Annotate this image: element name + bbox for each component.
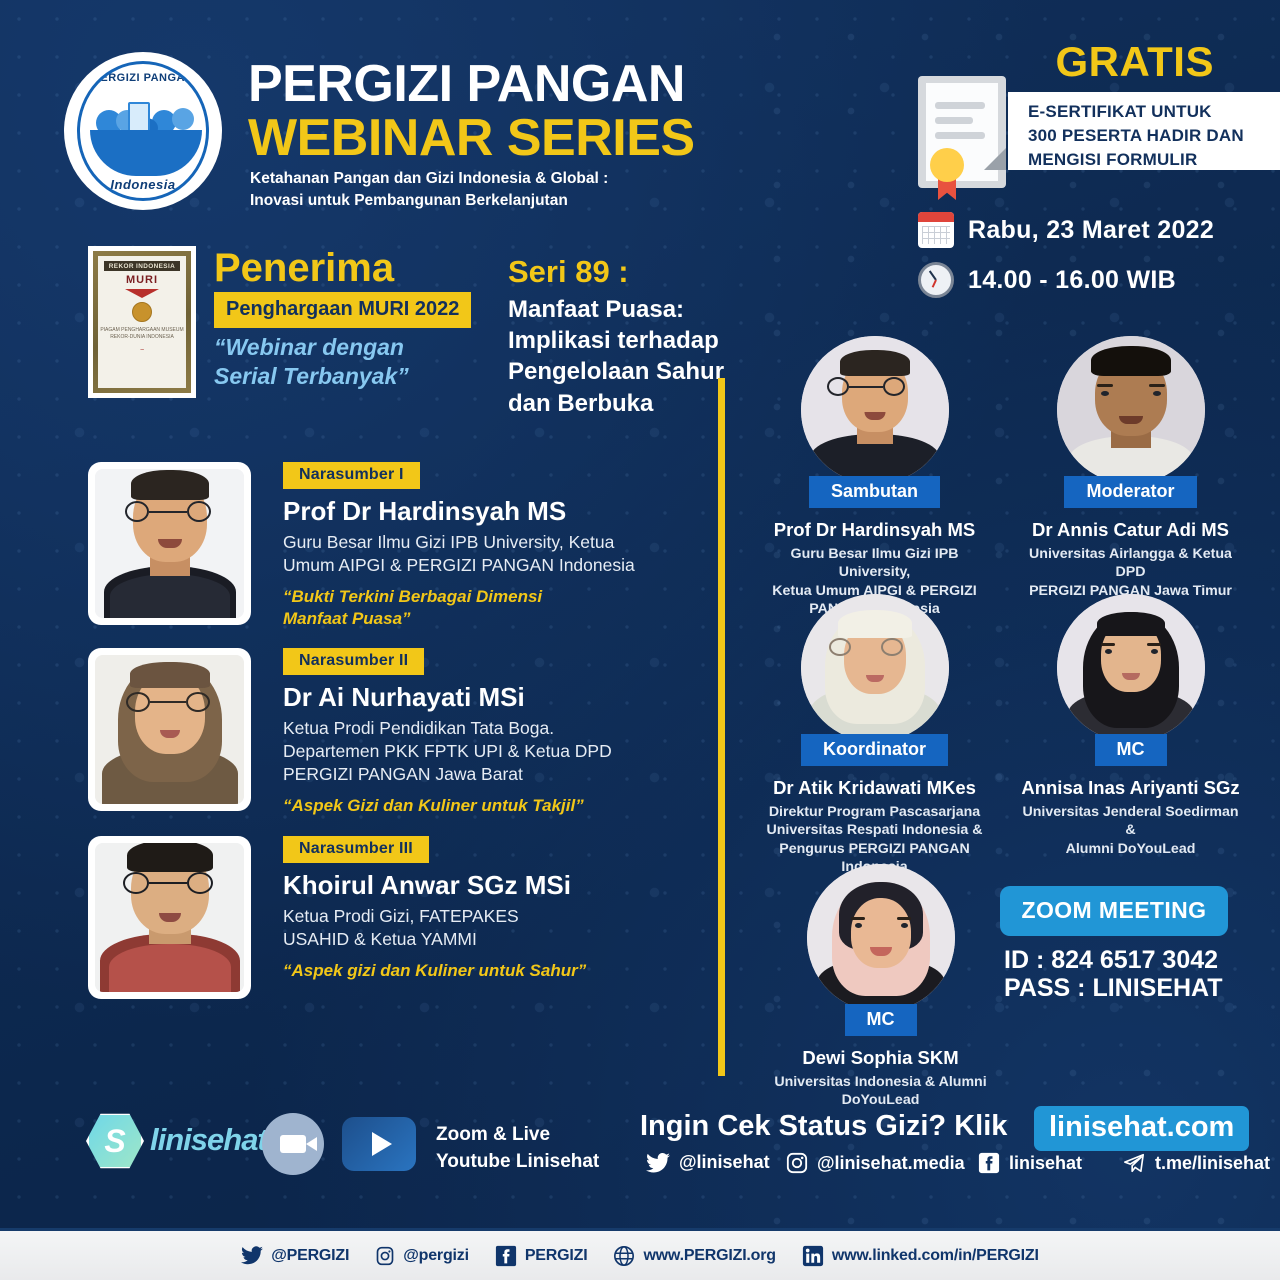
staff-role-mc-annisa: MC [1095,734,1167,766]
muri-award-badge: Penghargaan MURI 2022 [214,292,471,328]
series-title-line3: Pengelolaan Sahur [508,356,724,387]
speaker-photo-3 [88,836,251,999]
social-label-instagram: @linisehat.media [817,1153,965,1174]
staff-card-mc-dewi: MC Dewi Sophia SKM Universitas Indonesia… [768,864,993,1110]
staff-avatar-mc-annisa [1057,594,1205,742]
muri-award-quote: “Webinar dengan Serial Terbanyak” [214,333,409,391]
staff-desc-mc-annisa: Universitas Jenderal Soedirman & Alumni … [1018,803,1243,858]
event-time-row: 14.00 - 16.00 WIB [918,262,1176,298]
speaker-name-1: Prof Dr Hardinsyah MS [283,497,708,526]
staff-role-moderator: Moderator [1064,476,1196,508]
speaker-topic-1: “Bukti Terkini Berbagai Dimensi Manfaat … [283,586,708,630]
speaker-chip-2: Narasumber II [283,648,424,675]
cta-link-button[interactable]: linisehat.com [1034,1106,1249,1151]
instagram-icon [786,1152,808,1174]
speaker-topic-3: “Aspek gizi dan Kuliner untuk Sahur” [283,960,708,982]
staff-moderator-line1: Universitas Airlangga & Ketua DPD [1018,545,1243,582]
series-title-line1: Manfaat Puasa: [508,294,724,325]
vertical-divider [718,378,725,1076]
staff-card-mc-annisa: MC Annisa Inas Ariyanti SGz Universitas … [1018,594,1243,858]
speaker-aff-3-line2: USAHID & Ketua YAMMI [283,928,708,951]
speaker-topic-3-line1: “Aspek gizi dan Kuliner untuk Sahur” [283,960,708,982]
staff-avatar-moderator [1057,336,1205,484]
social-telegram-linisehat[interactable]: t.me/linisehat [1122,1152,1270,1174]
staff-sambutan-line1: Guru Besar Ilmu Gizi IPB University, [762,545,987,582]
stream-line1: Zoom & Live [436,1122,599,1149]
staff-avatar-koordinator [801,594,949,742]
facebook-icon [978,1152,1000,1174]
staff-mc-annisa-line1: Universitas Jenderal Soedirman & [1018,803,1243,840]
bottom-label-instagram: @pergizi [403,1247,469,1265]
tagline-line1: Ketahanan Pangan dan Gizi Indonesia & Gl… [250,168,608,190]
social-label-twitter: @linisehat [679,1152,770,1173]
speaker-aff-1-line1: Guru Besar Ilmu Gizi IPB University, Ket… [283,531,708,554]
staff-card-moderator: Moderator Dr Annis Catur Adi MS Universi… [1018,336,1243,600]
staff-desc-mc-dewi: Universitas Indonesia & Alumni DoYouLead [768,1073,993,1110]
logo-bowl-shape [90,130,202,176]
zoom-meeting-button[interactable]: ZOOM MEETING [1000,886,1228,936]
speaker-aff-1-line2: Umum AIPGI & PERGIZI PANGAN Indonesia [283,554,708,577]
series-title: Manfaat Puasa: Implikasi terhadap Pengel… [508,294,724,419]
poster-title-line2: WEBINAR SERIES [248,112,695,164]
gratis-label: GRATIS [1055,38,1214,86]
speaker-chip-1: Narasumber I [283,462,420,489]
bottom-item-linkedin[interactable]: www.linked.com/in/PERGIZI [802,1245,1039,1267]
staff-role-koordinator: Koordinator [801,734,948,766]
speaker-name-2: Dr Ai Nurhayati MSi [283,683,708,712]
speaker-aff-2-line2: Departemen PKK FPTK UPI & Ketua DPD [283,740,708,763]
social-facebook-linisehat[interactable]: linisehat [978,1152,1082,1174]
speaker-topic-2: “Aspek Gizi dan Kuliner untuk Takjil” [283,795,708,817]
speaker-name-3: Khoirul Anwar SGz MSi [283,871,708,900]
bottom-label-linkedin: www.linked.com/in/PERGIZI [832,1247,1039,1265]
staff-mc-dewi-line2: DoYouLead [768,1091,993,1109]
staff-name-sambutan: Prof Dr Hardinsyah MS [762,519,987,541]
staff-card-sambutan: Sambutan Prof Dr Hardinsyah MS Guru Besa… [762,336,987,619]
facebook-icon [495,1245,517,1267]
muri-quote-line2: Serial Terbanyak” [214,362,409,391]
muri-certificate-image: REKOR INDONESIA MURI PIAGAM PENGHARGAAN … [88,246,196,398]
speaker-topic-2-line1: “Aspek Gizi dan Kuliner untuk Takjil” [283,795,708,817]
twitter-icon [241,1246,263,1265]
penerima-heading: Penerima [214,248,394,288]
event-time: 14.00 - 16.00 WIB [968,266,1176,295]
staff-koordinator-line2: Universitas Respati Indonesia & [762,821,987,839]
speaker-affiliation-3: Ketua Prodi Gizi, FATEPAKES USAHID & Ket… [283,905,708,951]
social-label-facebook: linisehat [1009,1153,1082,1174]
speaker-affiliation-2: Ketua Prodi Pendidikan Tata Boga. Depart… [283,717,708,786]
certificate-line3: MENGISI FORMULIR [1028,148,1244,172]
bottom-item-twitter[interactable]: @PERGIZI [241,1246,349,1265]
linisehat-logo: S [86,1112,144,1170]
poster-title-line1: PERGIZI PANGAN [248,58,685,110]
staff-mc-annisa-line2: Alumni DoYouLead [1018,840,1243,858]
youtube-icon [342,1117,416,1171]
certificate-text: E-SERTIFIKAT UNTUK 300 PESERTA HADIR DAN… [1028,100,1244,172]
logo-top-arc-text: PERGIZI PANGAN [80,72,206,84]
event-date-row: Rabu, 23 Maret 2022 [918,212,1214,248]
staff-role-mc-dewi: MC [845,1004,917,1036]
staff-koordinator-line1: Direktur Program Pascasarjana [762,803,987,821]
speaker-chip-3: Narasumber III [283,836,429,863]
zoom-meeting-pass: PASS : LINISEHAT [1004,972,1223,1005]
certificate-line1: E-SERTIFIKAT UNTUK [1028,100,1244,124]
speaker-aff-3-line1: Ketua Prodi Gizi, FATEPAKES [283,905,708,928]
staff-koordinator-line3: Pengurus PERGIZI PANGAN [762,840,987,858]
staff-name-moderator: Dr Annis Catur Adi MS [1018,519,1243,541]
series-number: Seri 89 : [508,256,629,287]
series-title-line4: dan Berbuka [508,388,724,419]
stream-info: Zoom & Live Youtube Linisehat [436,1122,599,1176]
muri-chevron-icon [125,289,159,298]
bottom-label-website: www.PERGIZI.org [643,1247,775,1265]
bottom-item-website[interactable]: www.PERGIZI.org [613,1245,775,1267]
social-instagram-linisehat[interactable]: @linisehat.media [786,1152,965,1174]
linkedin-icon [802,1245,824,1267]
muri-word: MURI [126,274,158,286]
speaker-affiliation-1: Guru Besar Ilmu Gizi IPB University, Ket… [283,531,708,577]
staff-avatar-mc-dewi [807,864,955,1012]
staff-name-mc-dewi: Dewi Sophia SKM [768,1047,993,1069]
muri-certificate-body: PIAGAM PENGHARGAAN MUSEUM REKOR-DUNIA IN… [98,327,186,341]
series-title-line2: Implikasi terhadap [508,325,724,356]
certificate-line2: 300 PESERTA HADIR DAN [1028,124,1244,148]
muri-certificate-header: REKOR INDONESIA [104,261,180,271]
staff-card-koordinator: Koordinator Dr Atik Kridawati MKes Direk… [762,594,987,877]
staff-name-mc-annisa: Annisa Inas Ariyanti SGz [1018,777,1243,799]
pergizi-pangan-logo: PERGIZI PANGAN Indonesia [64,52,222,210]
staff-name-koordinator: Dr Atik Kridawati MKes [762,777,987,799]
instagram-icon [375,1246,395,1266]
poster-tagline: Ketahanan Pangan dan Gizi Indonesia & Gl… [250,168,608,212]
bottom-label-facebook: PERGIZI [525,1247,588,1265]
speaker-topic-1-line2: Manfaat Puasa” [283,608,708,630]
muri-medal-icon [132,302,152,322]
calendar-icon [918,212,954,248]
event-date: Rabu, 23 Maret 2022 [968,216,1214,245]
logo-bottom-arc-text: Indonesia [80,177,206,192]
zoom-app-icon [262,1113,324,1175]
muri-signature: ~ [140,347,144,354]
muri-quote-line1: “Webinar dengan [214,333,409,362]
poster-canvas: PERGIZI PANGAN Indonesia PERGIZI PANGAN … [0,0,1280,1280]
staff-desc-moderator: Universitas Airlangga & Ketua DPD PERGIZ… [1018,545,1243,600]
staff-mc-dewi-line1: Universitas Indonesia & Alumni [768,1073,993,1091]
tagline-line2: Inovasi untuk Pembangunan Berkelanjutan [250,190,608,212]
speaker-aff-2-line3: PERGIZI PANGAN Jawa Barat [283,763,708,786]
social-twitter-linisehat[interactable]: @linisehat [646,1152,770,1173]
social-label-telegram: t.me/linisehat [1155,1153,1270,1174]
staff-avatar-sambutan [801,336,949,484]
bottom-label-twitter: @PERGIZI [271,1247,349,1265]
speaker-photo-1 [88,462,251,625]
bottom-item-facebook[interactable]: PERGIZI [495,1245,588,1267]
speaker-aff-2-line1: Ketua Prodi Pendidikan Tata Boga. [283,717,708,740]
linisehat-wordmark: linisehat [150,1122,267,1158]
cta-text: Ingin Cek Status Gizi? Klik [640,1110,1007,1143]
speaker-photo-2 [88,648,251,811]
bottom-contact-bar: @PERGIZI @pergizi PERGIZI www.PERGIZI.or… [0,1228,1280,1280]
clock-icon [918,262,954,298]
twitter-icon [646,1153,670,1173]
telegram-icon [1122,1152,1146,1174]
stream-line2: Youtube Linisehat [436,1149,599,1176]
bottom-item-instagram[interactable]: @pergizi [375,1246,469,1266]
staff-role-sambutan: Sambutan [809,476,940,508]
globe-icon [613,1245,635,1267]
certificate-icon [918,76,1006,188]
speaker-topic-1-line1: “Bukti Terkini Berbagai Dimensi [283,586,708,608]
